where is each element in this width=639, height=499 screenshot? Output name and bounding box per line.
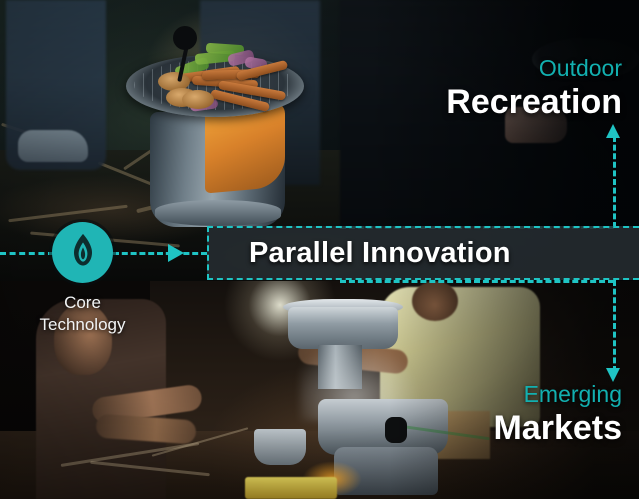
branch-label-outdoor-recreation: Outdoor Recreation xyxy=(446,57,622,119)
arrow-right-icon xyxy=(168,244,184,262)
emerging-small-label: Emerging xyxy=(493,383,622,406)
arrow-up-icon xyxy=(606,124,620,138)
recreation-big-label: Recreation xyxy=(446,85,622,119)
connector-top-vertical xyxy=(613,136,616,228)
connector-into-core xyxy=(0,252,54,255)
connector-bottom-horizontal xyxy=(340,280,614,283)
markets-big-label: Markets xyxy=(493,411,622,445)
core-technology-node[interactable] xyxy=(52,222,113,283)
flame-icon xyxy=(68,233,98,272)
outdoor-small-label: Outdoor xyxy=(446,57,622,80)
diagram-overlay: Core Technology Parallel Innovation Outd… xyxy=(0,0,639,499)
core-technology-label: Core Technology xyxy=(2,292,163,337)
connector-bottom-vertical xyxy=(613,280,616,372)
connector-core-to-box xyxy=(113,252,207,255)
parallel-innovation-label: Parallel Innovation xyxy=(249,237,511,270)
branch-label-emerging-markets: Emerging Markets xyxy=(493,383,622,445)
core-label-line-2: Technology xyxy=(39,315,125,334)
infographic-canvas: Core Technology Parallel Innovation Outd… xyxy=(0,0,639,499)
core-label-line-1: Core xyxy=(64,293,101,312)
parallel-innovation-banner[interactable]: Parallel Innovation xyxy=(207,226,639,280)
arrow-down-icon xyxy=(606,368,620,382)
